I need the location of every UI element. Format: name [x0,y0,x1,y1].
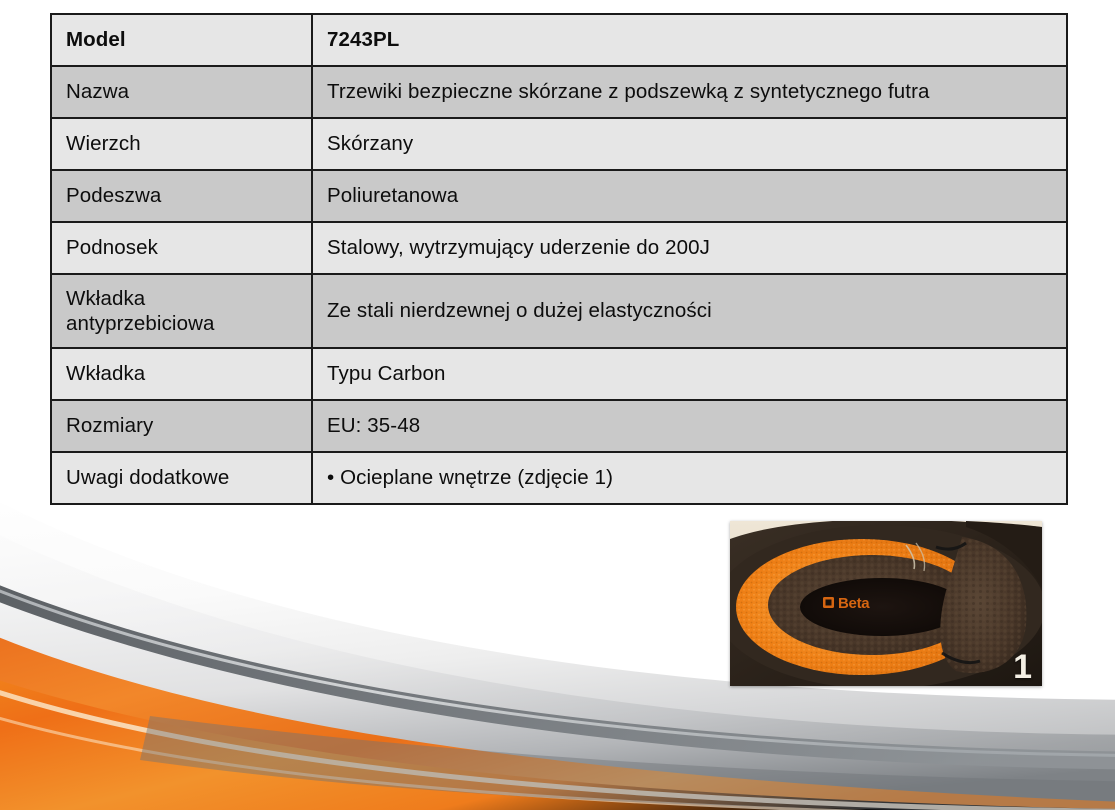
spec-label-wierzch: Wierzch [51,118,312,170]
table-row: Uwagi dodatkowe • Ocieplane wnętrze (zdj… [51,452,1067,504]
spec-label-podeszwa: Podeszwa [51,170,312,222]
spec-label-wkladka-antyprzebiciowa: Wkładkaantyprzebiciowa [51,274,312,348]
specification-table: Model 7243PL Nazwa Trzewiki bezpieczne s… [50,13,1068,505]
spec-value-uwagi-dodatkowe: • Ocieplane wnętrze (zdjęcie 1) [312,452,1067,504]
spec-value-podeszwa: Poliuretanowa [312,170,1067,222]
table-row: Podeszwa Poliuretanowa [51,170,1067,222]
table-row: Wierzch Skórzany [51,118,1067,170]
spec-label-podnosek: Podnosek [51,222,312,274]
spec-label-line-1: Wkładka [66,287,145,310]
spec-value-rozmiary: EU: 35-48 [312,400,1067,452]
spec-value-wierzch: Skórzany [312,118,1067,170]
specification-table-container: Model 7243PL Nazwa Trzewiki bezpieczne s… [50,13,1068,505]
table-row: Model 7243PL [51,14,1067,66]
table-row: Rozmiary EU: 35-48 [51,400,1067,452]
spec-value-nazwa: Trzewiki bezpieczne skórzane z podszewką… [312,66,1067,118]
product-photo-boot-interior: Beta 1 [730,521,1042,686]
svg-text:Beta: Beta [838,595,870,612]
spec-label-wkladka: Wkładka [51,348,312,400]
spec-value-wkladka-antyprzebiciowa: Ze stali nierdzewnej o dużej elastycznoś… [312,274,1067,348]
spec-label-rozmiary: Rozmiary [51,400,312,452]
table-row: Nazwa Trzewiki bezpieczne skórzane z pod… [51,66,1067,118]
table-row: Wkładkaantyprzebiciowa Ze stali nierdzew… [51,274,1067,348]
spec-label-uwagi-dodatkowe: Uwagi dodatkowe [51,452,312,504]
photo-caption-number: 1 [1013,650,1032,684]
table-row: Wkładka Typu Carbon [51,348,1067,400]
spec-value-podnosek: Stalowy, wytrzymujący uderzenie do 200J [312,222,1067,274]
table-row: Podnosek Stalowy, wytrzymujący uderzenie… [51,222,1067,274]
spec-label-nazwa: Nazwa [51,66,312,118]
spec-value-model: 7243PL [312,14,1067,66]
spec-label-line-2: antyprzebiciowa [66,312,215,335]
spec-value-wkladka: Typu Carbon [312,348,1067,400]
boot-interior-illustration: Beta [730,521,1042,686]
spec-label-model: Model [51,14,312,66]
